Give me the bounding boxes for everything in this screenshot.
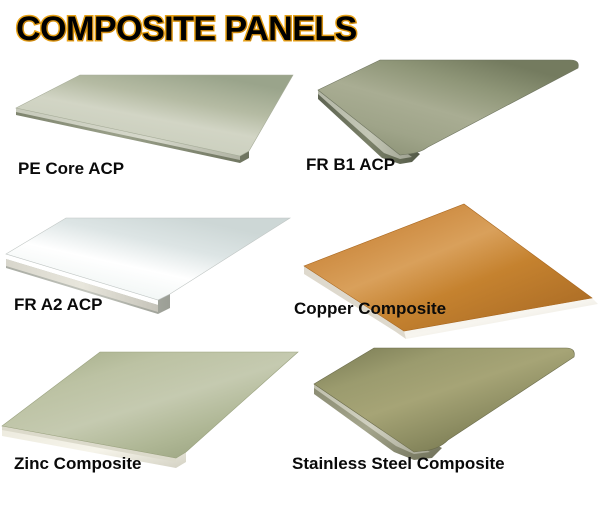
panel-label-zinc-composite: Zinc Composite [14, 455, 142, 472]
panel-top-face [314, 348, 574, 452]
panel-label-fr-b1-acp: FR B1 ACP [306, 156, 395, 173]
panel-top-face [6, 218, 290, 300]
panel-label-stainless-steel-composite: Stainless Steel Composite [292, 455, 505, 472]
panel-image-pe-core-acp [8, 58, 298, 173]
page-title: COMPOSITE PANELS [16, 12, 357, 46]
panel-label-fr-a2-acp: FR A2 ACP [14, 296, 102, 313]
panel-label-pe-core-acp: PE Core ACP [18, 160, 124, 177]
panel-label-copper-composite: Copper Composite [294, 300, 446, 317]
panel-image-copper-composite [296, 198, 600, 343]
panel-top-face [318, 60, 578, 155]
composite-panels-poster: COMPOSITE PANELS [0, 0, 600, 513]
